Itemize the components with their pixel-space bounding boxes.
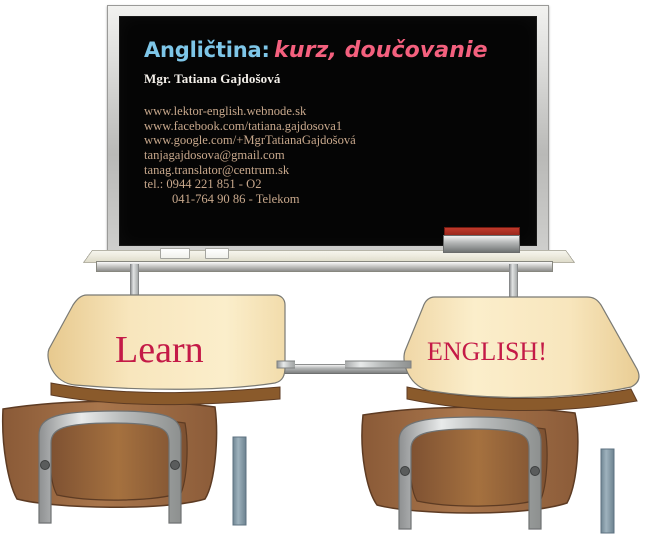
desk-right-graphic — [345, 287, 645, 549]
eraser-body — [443, 235, 520, 253]
blackboard-surface: Angličtina: kurz, doučovanie Mgr. Tatian… — [119, 16, 537, 246]
board-contact-line: www.lektor-english.webnode.sk — [144, 104, 528, 119]
board-title: Angličtina: kurz, doučovanie — [144, 39, 528, 63]
desk-right-label: ENGLISH! — [427, 337, 547, 367]
board-contact-line: tanag.translator@centrum.sk — [144, 163, 528, 178]
board-contact-line: www.google.com/+MgrTatianaGajdošová — [144, 133, 528, 148]
chalk-stick — [160, 248, 190, 259]
school-desk-right: ENGLISH! — [345, 287, 645, 549]
board-title-accent: kurz, doučovanie — [274, 38, 488, 63]
board-contact-line: 041-764 90 86 - Telekom — [144, 192, 528, 207]
board-contact-line: tel.: 0944 221 851 - O2 — [144, 177, 528, 192]
blackboard-frame: Angličtina: kurz, doučovanie Mgr. Tatian… — [107, 5, 549, 255]
desk-left-label: Learn — [115, 328, 204, 372]
school-desk-left: Learn — [0, 287, 295, 549]
chalk-stick — [205, 248, 229, 259]
board-contact-line: tanjagajdosova@gmail.com — [144, 148, 528, 163]
classroom-scene: Angličtina: kurz, doučovanie Mgr. Tatian… — [0, 0, 650, 549]
board-contact-list: www.lektor-english.webnode.skwww.faceboo… — [144, 104, 528, 206]
chalk-ledge-front — [96, 261, 553, 272]
board-title-subject: Angličtina: — [144, 38, 270, 62]
desk-left-graphic — [0, 287, 295, 549]
board-author-name: Mgr. Tatiana Gajdošová — [144, 71, 528, 87]
board-contact-line: www.facebook.com/tatiana.gajdosova1 — [144, 119, 528, 134]
blackboard-text-block: Angličtina: kurz, doučovanie Mgr. Tatian… — [144, 39, 528, 206]
